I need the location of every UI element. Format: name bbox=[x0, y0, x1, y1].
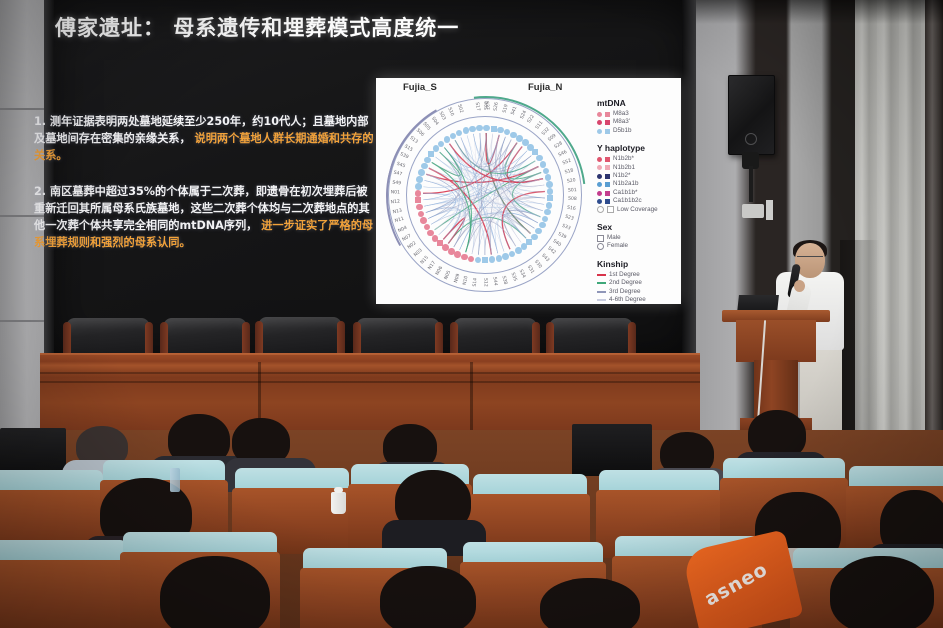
legend-item: M8a3 bbox=[597, 110, 677, 118]
legend-item-label: Female bbox=[607, 242, 628, 250]
legend-item: N1b2* bbox=[597, 172, 677, 180]
circos-node bbox=[491, 126, 497, 132]
legend-dot-swatch bbox=[597, 120, 602, 125]
circos-node-label: N01 bbox=[391, 190, 400, 195]
legend-spacer bbox=[597, 135, 677, 143]
legend-item-label: M8a3' bbox=[613, 118, 630, 126]
legend-square-swatch bbox=[605, 112, 610, 117]
circos-node bbox=[428, 151, 434, 157]
circos-node bbox=[521, 243, 528, 250]
legend-title-sex: Sex bbox=[597, 222, 677, 232]
legend-spacer bbox=[597, 251, 677, 259]
legend-item-label: M8a3 bbox=[613, 110, 629, 118]
circos-node bbox=[546, 202, 553, 209]
water-bottle bbox=[170, 468, 180, 492]
circos-node bbox=[463, 127, 470, 134]
audience-member-head bbox=[830, 556, 934, 628]
legend-item: 1st Degree bbox=[597, 271, 677, 279]
legend-line-swatch bbox=[597, 274, 606, 276]
legend-item: Male bbox=[597, 234, 677, 242]
circos-node bbox=[415, 183, 422, 190]
legend-item-label: N1b2* bbox=[613, 172, 631, 180]
circos-node bbox=[546, 181, 553, 188]
legend-square-swatch bbox=[605, 174, 610, 179]
speaker-pole bbox=[749, 166, 753, 202]
circos-node bbox=[547, 195, 553, 201]
circos-node bbox=[421, 163, 428, 170]
legend-dot-swatch bbox=[597, 174, 602, 179]
desk-seam bbox=[470, 362, 473, 435]
legend-line-swatch bbox=[597, 299, 606, 301]
legend-shape-swatch bbox=[597, 243, 604, 250]
legend-item: M8a3' bbox=[597, 118, 677, 126]
legend-item-label: Ca1b1b2c bbox=[613, 197, 642, 205]
slide-bullet-list: 1. 测年证据表明两处墓地延续至少250年，约10代人；且墓地内部及墓地间存在密… bbox=[34, 113, 374, 270]
circos-node bbox=[416, 204, 423, 211]
circos-node bbox=[432, 235, 439, 242]
legend-item: Ca1b1b2c bbox=[597, 197, 677, 205]
legend-shape-swatch bbox=[597, 235, 604, 242]
legend-dot-swatch bbox=[597, 165, 602, 170]
circos-node bbox=[415, 197, 421, 203]
circos-node bbox=[496, 255, 503, 262]
circos-node bbox=[424, 157, 431, 164]
ceiling-shadow bbox=[690, 0, 943, 24]
legend-item: 4-6th Degree bbox=[597, 296, 677, 304]
tea-cup bbox=[331, 492, 346, 514]
circos-node-label: S20 bbox=[567, 178, 576, 184]
legend-dot-swatch bbox=[597, 129, 602, 134]
circos-node-label: S01 bbox=[568, 188, 577, 193]
legend-square-swatch bbox=[605, 182, 610, 187]
audience-member-head bbox=[540, 578, 640, 628]
legend-square-swatch bbox=[605, 129, 610, 134]
legend-item-label: 2nd Degree bbox=[609, 279, 642, 287]
podium-body bbox=[736, 320, 816, 362]
circos-node bbox=[545, 174, 552, 181]
circos-node bbox=[424, 224, 431, 231]
group-label-left: Fujia_S bbox=[403, 82, 437, 93]
legend-item: N1b2b1 bbox=[597, 164, 677, 172]
legend-title-mtdna: mtDNA bbox=[597, 98, 677, 108]
slide-bullet-2: 2. 南区墓葬中超过35%的个体属于二次葬，即遗骨在初次埋葬后被重新迁回其所属母… bbox=[34, 183, 374, 251]
legend-line-swatch bbox=[597, 282, 606, 284]
audience-member-head bbox=[380, 566, 476, 628]
circos-node bbox=[437, 240, 443, 246]
circos-node-label: S12 bbox=[483, 278, 488, 287]
speaker-wall-shadow bbox=[840, 240, 880, 450]
legend-item-label: Low Coverage bbox=[617, 206, 658, 214]
slide-figure-panel: Fujia_S Fujia_N S17S27S08S26S19S41S24S22… bbox=[376, 78, 681, 304]
speaker-hand bbox=[794, 280, 805, 292]
circos-node bbox=[415, 190, 422, 197]
legend-item: D5b1b bbox=[597, 127, 677, 135]
circos-node-label: S08 bbox=[485, 101, 490, 110]
circos-node bbox=[526, 239, 532, 245]
glasses-icon bbox=[797, 256, 823, 263]
legend-line-swatch bbox=[597, 291, 606, 293]
legend-title-y-haplotype: Y haplotype bbox=[597, 143, 677, 153]
legend-item-label: Ca1b1b* bbox=[613, 189, 638, 197]
circos-node bbox=[420, 217, 427, 224]
door-frame bbox=[925, 0, 943, 470]
legend-spacer bbox=[597, 214, 677, 222]
legend-square-swatch bbox=[605, 165, 610, 170]
legend-item-label: N1b2a1b bbox=[613, 180, 639, 188]
legend-square-swatch bbox=[605, 157, 610, 162]
circos-node-label: S44 bbox=[492, 277, 498, 286]
circos-node bbox=[418, 169, 425, 176]
circos-node bbox=[427, 230, 434, 237]
camera-bracket bbox=[766, 200, 773, 220]
group-label-right: Fujia_N bbox=[528, 82, 562, 93]
circos-node bbox=[444, 136, 451, 143]
legend-item-label: N1b2b1 bbox=[613, 164, 635, 172]
legend-square-swatch bbox=[607, 206, 614, 213]
legend-item-label: 1st Degree bbox=[609, 271, 640, 279]
circos-node-label: N12 bbox=[391, 199, 401, 205]
audience-member-head bbox=[160, 556, 270, 628]
slide-title: 傅家遗址： 母系遗传和埋葬模式高度统一 bbox=[55, 12, 655, 42]
circos-node-label: S49 bbox=[392, 181, 401, 187]
circos-node bbox=[454, 251, 461, 258]
circos-node bbox=[543, 168, 550, 175]
legend-dot-swatch bbox=[597, 199, 602, 204]
legend-item: Female bbox=[597, 242, 677, 250]
stage-desk bbox=[40, 355, 700, 435]
circos-node bbox=[540, 161, 547, 168]
wall-speaker-icon bbox=[728, 75, 775, 155]
camera-unit bbox=[742, 204, 764, 218]
circos-node bbox=[416, 176, 423, 183]
circos-node bbox=[469, 126, 476, 133]
circos-node bbox=[489, 256, 496, 263]
seat-back bbox=[0, 560, 130, 628]
legend-item-label: 3rd Degree bbox=[609, 288, 641, 296]
legend-item: Ca1b1b* bbox=[597, 189, 677, 197]
legend-item-label: 4-6th Degree bbox=[609, 296, 646, 304]
circos-network-diagram: S17S27S08S26S19S41S24S22S11S32S09S28S46S… bbox=[384, 94, 584, 294]
circos-node bbox=[482, 257, 488, 263]
desk-molding bbox=[40, 372, 700, 374]
bag-brand-text: asneo bbox=[701, 558, 772, 611]
legend-square-swatch bbox=[605, 199, 610, 204]
legend-item-label: D5b1b bbox=[613, 127, 632, 135]
legend-dot-swatch bbox=[597, 157, 602, 162]
legend-item: 2nd Degree bbox=[597, 279, 677, 287]
circos-node bbox=[448, 248, 455, 255]
legend-dot-swatch bbox=[597, 112, 602, 117]
slide-bullet-1: 1. 测年证据表明两处墓地延续至少250年，约10代人；且墓地内部及墓地间存在密… bbox=[34, 113, 374, 164]
circos-node bbox=[442, 244, 449, 251]
desk-molding bbox=[40, 381, 700, 383]
legend-item: Low Coverage bbox=[597, 206, 677, 214]
figure-legend: mtDNAM8a3M8a3'D5b1bY haplotypeN1b2b*N1b2… bbox=[597, 98, 677, 304]
circos-node bbox=[515, 247, 522, 254]
legend-dot-swatch bbox=[597, 191, 602, 196]
screen-edge-right bbox=[682, 0, 696, 360]
circos-node bbox=[502, 253, 509, 260]
legend-title-kinship: Kinship bbox=[597, 259, 677, 269]
floor-monitor-speaker bbox=[572, 424, 652, 476]
legend-dot-swatch bbox=[597, 182, 602, 187]
legend-item-label: N1b2b* bbox=[613, 155, 634, 163]
legend-square-swatch bbox=[605, 191, 610, 196]
legend-item-label: Male bbox=[607, 234, 621, 242]
legend-item: 3rd Degree bbox=[597, 288, 677, 296]
presentation-photo: 傅家遗址： 母系遗传和埋葬模式高度统一 1. 测年证据表明两处墓地延续至少250… bbox=[0, 0, 943, 628]
legend-dot-swatch bbox=[597, 206, 604, 213]
circos-node bbox=[497, 127, 504, 134]
circos-node bbox=[547, 188, 554, 195]
circos-node bbox=[461, 254, 468, 261]
legend-item: N1b2a1b bbox=[597, 180, 677, 188]
audience-seat bbox=[0, 540, 130, 628]
legend-square-swatch bbox=[605, 120, 610, 125]
legend-item: N1b2b* bbox=[597, 155, 677, 163]
floor-monitor-speaker bbox=[0, 428, 66, 476]
